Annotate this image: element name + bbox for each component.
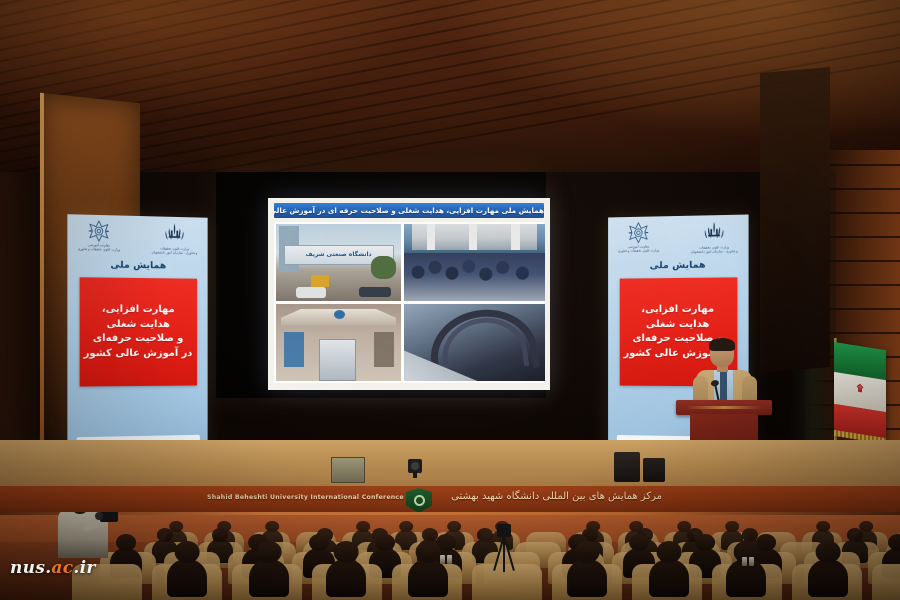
group-photo — [404, 224, 545, 301]
gate-car-dark — [359, 287, 392, 297]
banner-headline-line-1: مهارت افزایی، — [641, 303, 714, 317]
audience-member — [167, 559, 207, 597]
camera-icon — [408, 455, 422, 477]
watermark: nus.ac.ir — [10, 558, 96, 578]
facade-banner-right — [374, 332, 394, 367]
banner-logos: معاونت آموزشی وزارت علوم، تحقیقات و فناو… — [74, 219, 202, 255]
building-column-left — [427, 224, 435, 250]
eight-point-star-emblem-icon — [628, 222, 650, 244]
iran-national-emblem-icon — [165, 222, 185, 246]
loudspeaker-icon — [643, 458, 665, 482]
water-glass — [440, 555, 445, 564]
banner-subtitle: همایش ملی — [650, 259, 706, 271]
slide-title: همایش ملی مهارت افزایی، هدایت شغلی و صلا… — [274, 203, 544, 218]
auditorium-chair — [872, 564, 900, 600]
iran-national-emblem-icon — [704, 220, 724, 245]
banner-logos: معاونت آموزشی وزارت علوم، تحقیقات و فناو… — [614, 220, 743, 256]
ceiling-glow-right — [440, 0, 900, 140]
group-photo-crowd — [404, 253, 545, 301]
water-glass — [742, 557, 747, 566]
audience-member — [408, 559, 448, 597]
flag-emblem-icon: ۩ — [856, 384, 864, 400]
projection-screen: همایش ملی مهارت افزایی، هدایت شغلی و صلا… — [268, 198, 550, 390]
banner-headline-line-1: مهارت افزایی، — [102, 303, 175, 317]
speaker-hair — [709, 338, 735, 351]
banner-headline-line-2: هدایت شغلی — [646, 317, 709, 331]
stage-monitor-icon — [331, 457, 365, 483]
water-glass — [749, 557, 754, 566]
audience-member — [649, 559, 689, 597]
podium-top — [676, 400, 772, 415]
banner-headline-block: مهارت افزایی، هدایت شغلی و صلاحیت حرفه‌ا… — [79, 277, 196, 386]
stage-floor — [0, 440, 900, 492]
banner-logo-right-caption: وزارت علوم، تحقیقات و فناوری - سازمان ام… — [152, 246, 198, 255]
audience-member — [808, 559, 848, 597]
facade-entrance-door — [319, 339, 357, 381]
slide-photo-grid: دانشگاه صنعتی شریف — [274, 222, 544, 383]
audience-member — [567, 559, 607, 597]
banner-headline-line-2: هدایت شغلی — [107, 317, 170, 331]
banner-logo-right-caption: وزارت علوم، تحقیقات و فناوری - سازمان ام… — [691, 245, 738, 254]
tripod-camera-icon — [497, 524, 511, 572]
banner-headline-line-4: در آموزش عالی کشور — [84, 347, 193, 361]
venue-name-persian: مرکز همایش های بین المللی دانشگاه شهید ب… — [451, 491, 662, 502]
building-column-mid — [469, 224, 477, 250]
university-gate-photo: دانشگاه صنعتی شریف — [276, 224, 401, 301]
auditorium-seating — [0, 512, 900, 600]
shield-emblem-icon — [406, 488, 432, 513]
loudspeaker-icon — [614, 452, 640, 482]
eight-point-star-emblem-icon — [88, 220, 110, 243]
photographer-icon — [52, 512, 114, 558]
arch-structure-photo — [404, 304, 545, 381]
building-facade-photo — [276, 304, 401, 381]
audience-member — [326, 559, 366, 597]
speaker-tie — [720, 372, 727, 402]
facade-banner-left — [284, 332, 304, 367]
banner-headline-line-3: و صلاحیت حرفه‌ای — [93, 332, 183, 346]
watermark-prefix: nus. — [10, 558, 51, 578]
watermark-suffix: .ir — [73, 558, 95, 578]
auditorium-rail — [0, 512, 900, 515]
audience-member — [249, 559, 289, 597]
gate-tree — [371, 256, 396, 279]
building-column-right — [511, 224, 519, 250]
banner-logo-left-caption: معاونت آموزشی وزارت علوم، تحقیقات و فناو… — [618, 244, 659, 253]
banner-subtitle: همایش ملی — [110, 259, 166, 271]
gate-kiosk — [311, 275, 329, 287]
conference-hall-photo: همایش ملی مهارت افزایی، هدایت شغلی و صلا… — [0, 0, 900, 600]
watermark-mid: ac — [51, 558, 73, 578]
banner-logo-left-caption: معاونت آموزشی وزارت علوم، تحقیقات و فناو… — [78, 243, 120, 252]
venue-name-english: Shahid Beheshti University International… — [207, 494, 431, 501]
gate-car-white — [296, 287, 326, 298]
banner-left: معاونت آموزشی وزارت علوم، تحقیقات و فناو… — [67, 214, 207, 468]
water-glass — [447, 555, 452, 564]
right-acoustic-panel — [760, 67, 830, 373]
flag-cloth: ۩ — [834, 342, 886, 442]
